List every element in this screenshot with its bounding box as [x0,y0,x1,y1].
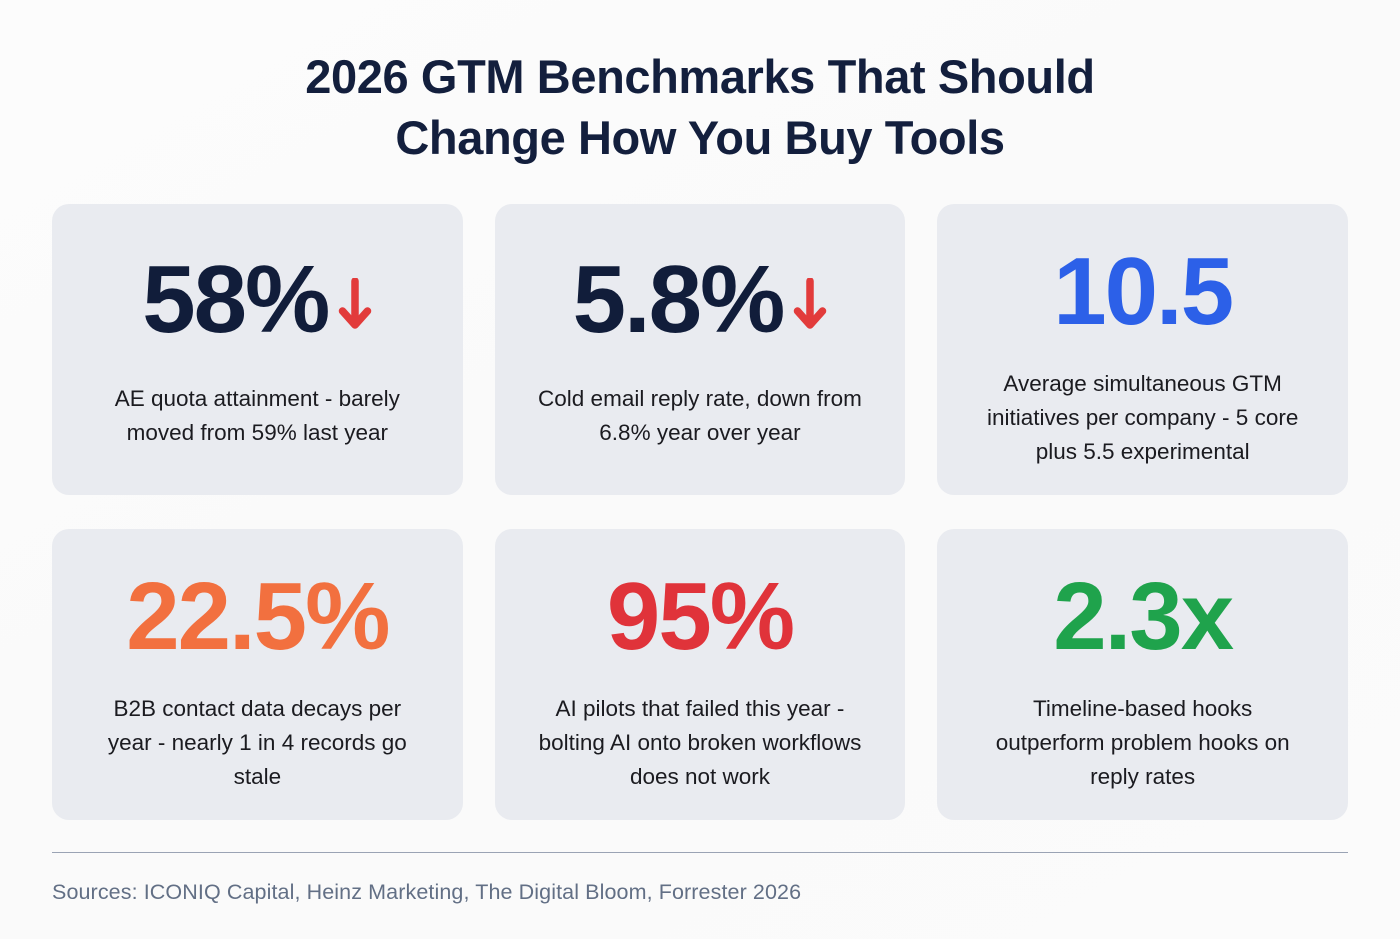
stat-description: Timeline-based hooks outperform problem … [978,692,1308,795]
infographic-page: 2026 GTM Benchmarks That Should Change H… [0,0,1400,939]
page-title: 2026 GTM Benchmarks That Should Change H… [52,0,1348,168]
stat-row: 58% [142,240,372,360]
benchmark-card: 22.5% B2B contact data decays per year -… [52,529,463,820]
sources-text: Sources: ICONIQ Capital, Heinz Marketing… [52,853,1348,905]
benchmark-card: 10.5 Average simultaneous GTM initiative… [937,204,1348,495]
stat-description: B2B contact data decays per year - nearl… [92,692,422,795]
stat-row: 5.8% [573,240,828,360]
title-line-2: Change How You Buy Tools [52,107,1348,168]
stat-row: 10.5 [1053,240,1232,344]
stat-value: 5.8% [573,252,784,348]
stat-description: AI pilots that failed this year - boltin… [535,692,865,795]
benchmark-card: 5.8% Cold email reply rate, down from 6.… [495,204,906,495]
stat-row: 22.5% [126,565,388,669]
stat-value: 58% [142,252,328,348]
stat-value: 2.3x [1053,569,1232,665]
stat-row: 2.3x [1053,565,1232,669]
stat-description: Cold email reply rate, down from 6.8% ye… [535,382,865,450]
stat-row: 95% [607,565,793,669]
benchmark-card-grid: 58% AE quota attainment - barely moved f… [52,204,1348,820]
stat-value: 10.5 [1053,244,1232,340]
stat-value: 22.5% [126,569,388,665]
arrow-down-icon [338,278,372,334]
title-line-1: 2026 GTM Benchmarks That Should [52,46,1348,107]
stat-value: 95% [607,569,793,665]
benchmark-card: 58% AE quota attainment - barely moved f… [52,204,463,495]
arrow-down-icon [793,278,827,334]
title-heading: 2026 GTM Benchmarks That Should Change H… [52,46,1348,168]
footer: Sources: ICONIQ Capital, Heinz Marketing… [52,852,1348,939]
stat-description: Average simultaneous GTM initiatives per… [978,367,1308,470]
benchmark-card: 95% AI pilots that failed this year - bo… [495,529,906,820]
stat-description: AE quota attainment - barely moved from … [92,382,422,450]
benchmark-card: 2.3x Timeline-based hooks outperform pro… [937,529,1348,820]
